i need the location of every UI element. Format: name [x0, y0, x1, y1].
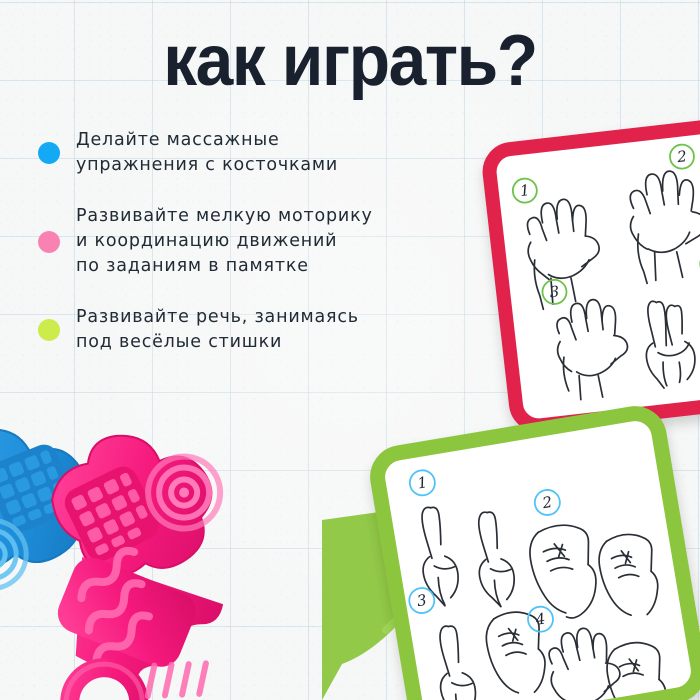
benefits-list: Делайте массажные упражнения с косточкам… [38, 128, 458, 381]
poster-canvas: как играть? Делайте массажные упражнения… [0, 0, 700, 700]
bullet-dot-blue-icon [38, 142, 60, 164]
svg-text:1: 1 [519, 181, 531, 200]
list-item: Развивайте речь, занимаясь под весёлые с… [38, 305, 458, 355]
massage-toy-pink [12, 418, 332, 700]
svg-text:1: 1 [416, 473, 428, 492]
badge-group: 1 2 3 4 [510, 141, 700, 307]
svg-text:2: 2 [675, 147, 688, 166]
red-card-illustration: 1 2 3 4 [495, 128, 700, 420]
list-item: Делайте массажные упражнения с косточкам… [38, 128, 458, 178]
bullet-dot-pink-icon [38, 231, 60, 253]
list-item-label: Развивайте речь, занимаясь под весёлые с… [76, 305, 359, 355]
list-item: Развивайте мелкую моторику и координацию… [38, 204, 458, 279]
instruction-card-green: 1 2 3 4 [365, 401, 700, 700]
list-item-label: Развивайте мелкую моторику и координацию… [76, 204, 373, 279]
svg-text:4: 4 [533, 610, 546, 629]
svg-text:3: 3 [416, 591, 428, 610]
list-item-label: Делайте массажные упражнения с косточкам… [76, 128, 338, 178]
svg-text:3: 3 [549, 282, 561, 301]
instruction-card-red: 1 2 3 4 [479, 112, 700, 435]
green-card-illustration: 1 2 3 4 [383, 419, 694, 700]
svg-text:2: 2 [540, 493, 553, 512]
page-title: как играть? [21, 22, 679, 100]
bullet-dot-lime-icon [38, 319, 60, 341]
